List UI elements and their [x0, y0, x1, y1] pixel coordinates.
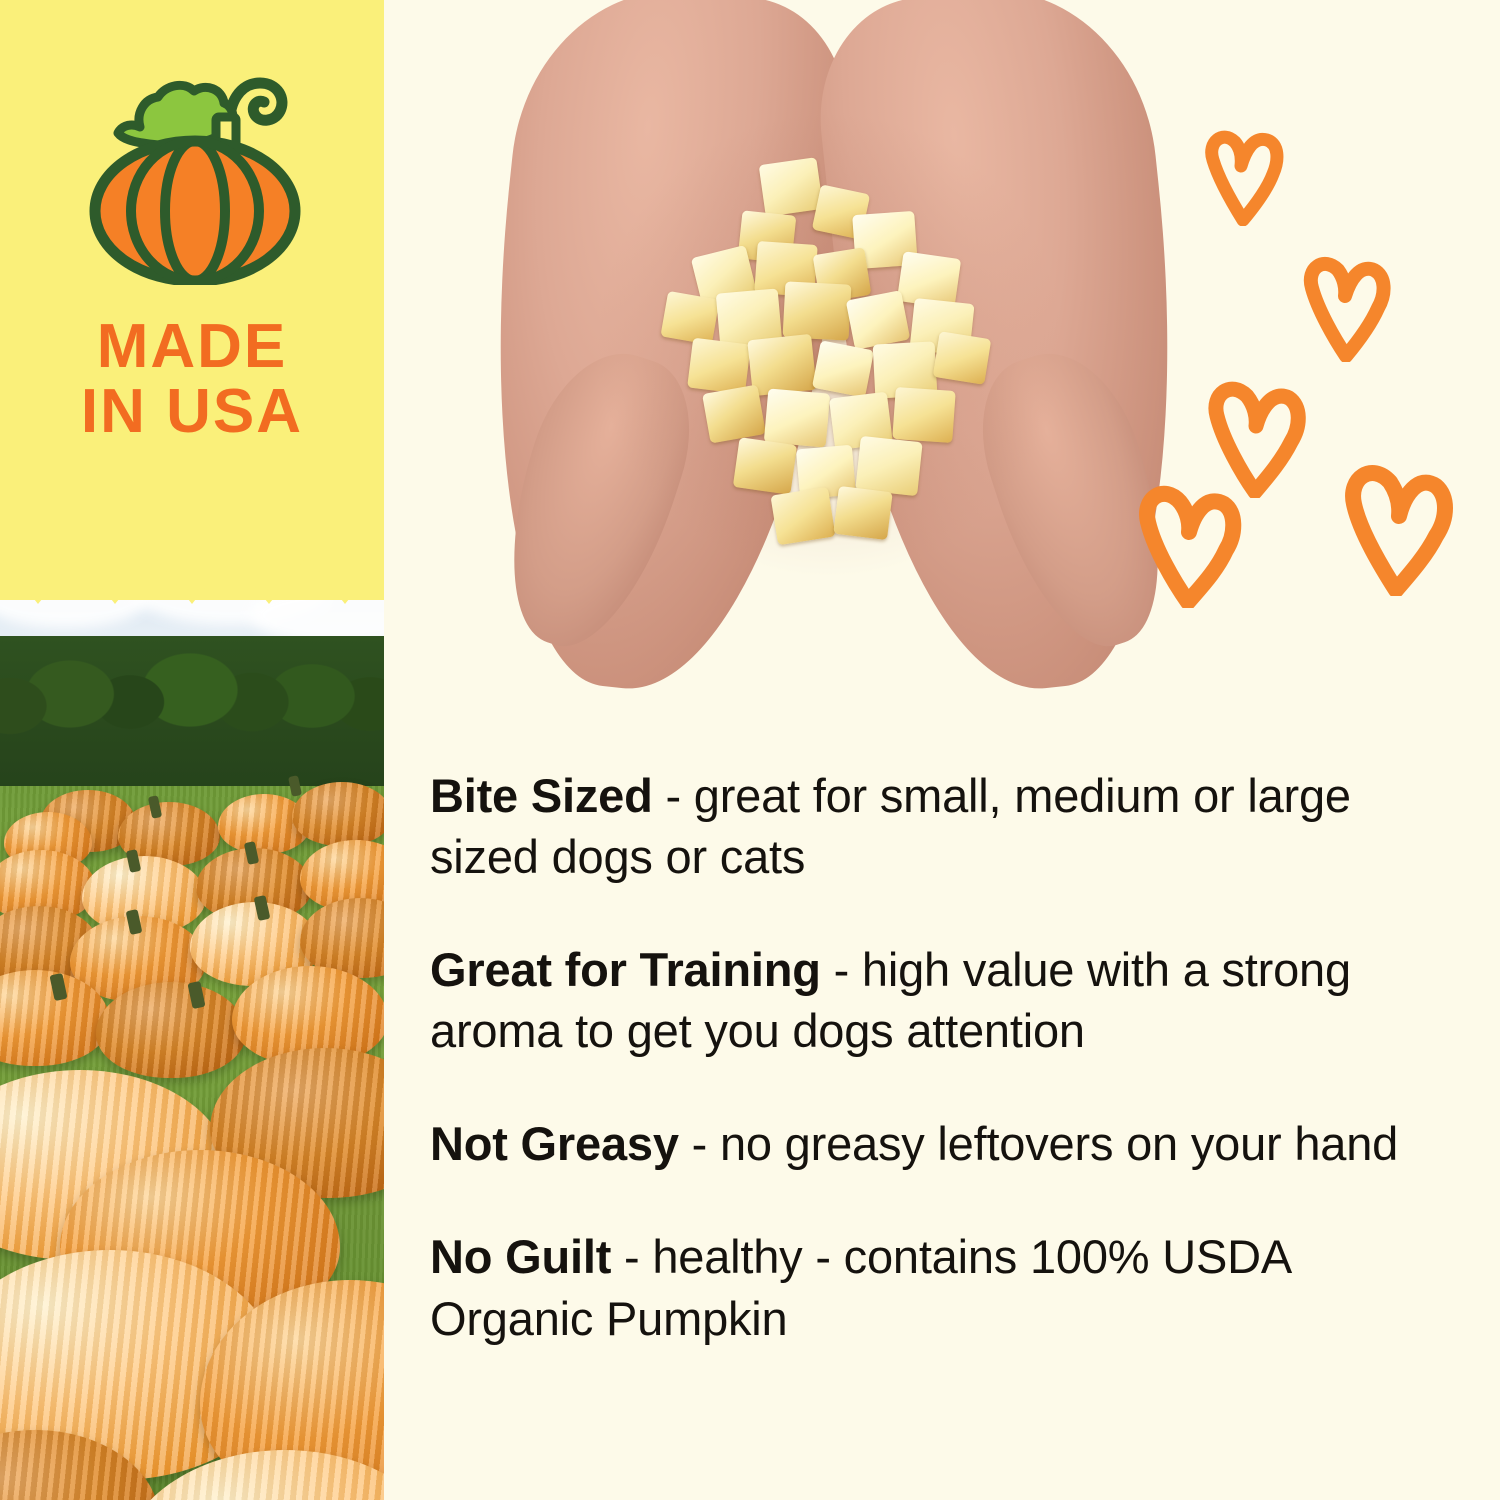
heart-icon: [1296, 250, 1394, 362]
feature-title: Great for Training: [430, 943, 821, 996]
hands-holding-treats-photo: [474, 0, 1204, 710]
pumpkin-patch-photo: [0, 550, 384, 1500]
made-in-usa-line2: IN USA: [0, 383, 384, 442]
feature-item: No Guilt - healthy - contains 100% USDA …: [430, 1226, 1460, 1348]
feature-list: Bite Sized - great for small, medium or …: [430, 718, 1460, 1349]
feature-body: - no greasy leftovers on your hand: [679, 1117, 1398, 1170]
made-in-usa-label: MADE IN USA: [0, 318, 384, 442]
feature-title: No Guilt: [430, 1230, 611, 1283]
left-column: MADE IN USA: [0, 0, 384, 1500]
zigzag-divider: [0, 534, 384, 604]
feature-item: Great for Training - high value with a s…: [430, 939, 1460, 1061]
made-in-usa-line1: MADE: [0, 318, 384, 377]
product-feature-infographic: MADE IN USA: [0, 0, 1500, 1500]
right-panel: Bite Sized - great for small, medium or …: [384, 0, 1500, 1500]
feature-item: Bite Sized - great for small, medium or …: [430, 765, 1460, 887]
pumpkin-treat-pile: [644, 155, 1044, 575]
heart-icon: [1197, 124, 1285, 226]
heart-icon: [1336, 460, 1454, 596]
feature-item: Not Greasy - no greasy leftovers on your…: [430, 1113, 1460, 1174]
feature-title: Not Greasy: [430, 1117, 679, 1170]
pumpkin-icon: [88, 55, 303, 285]
feature-title: Bite Sized: [430, 769, 653, 822]
heart-icon: [1132, 480, 1244, 608]
